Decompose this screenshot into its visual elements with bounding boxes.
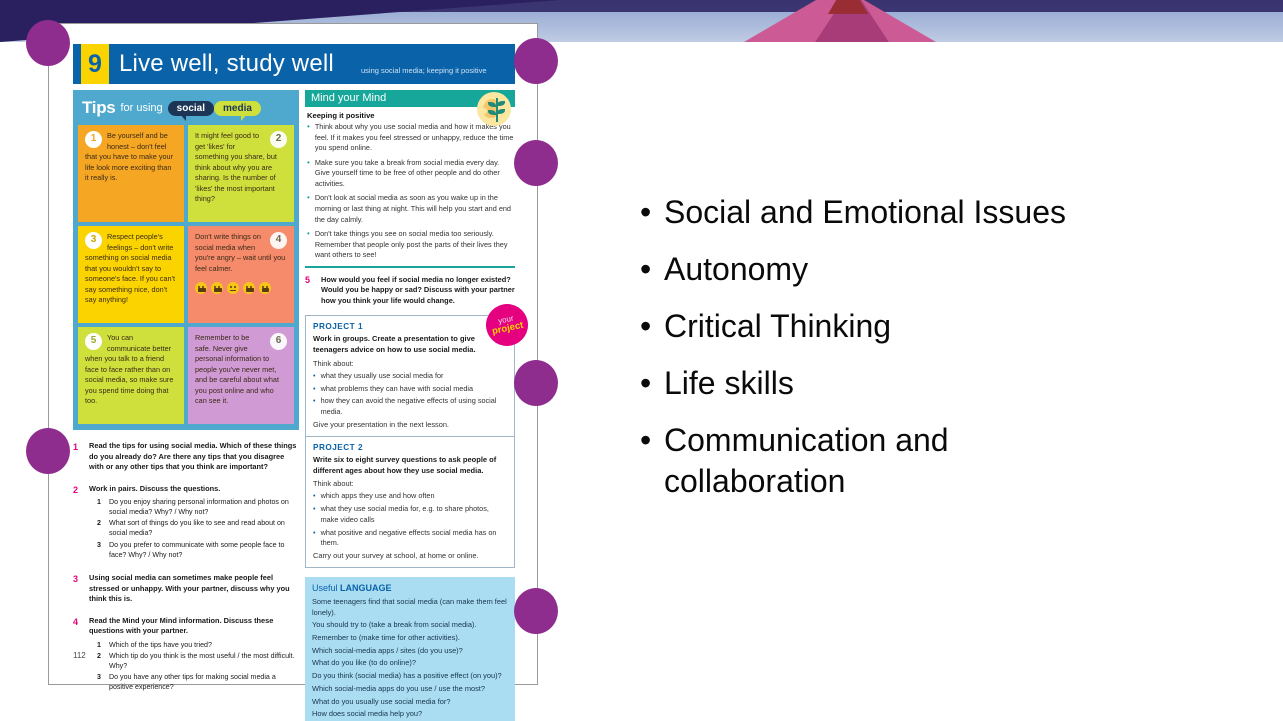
mind-your-mind-box: Mind your Mind Keeping it positive • Thi…: [305, 90, 515, 268]
project-think-label: Think about:: [313, 359, 507, 368]
bullet-dot-icon: •: [313, 384, 316, 394]
exercise-3: 3 Using social media can sometimes make …: [73, 573, 299, 605]
mym-bullet: • Don't look at social media as soon as …: [305, 193, 515, 225]
useful-language-line: You should try to (take a break from soc…: [312, 620, 508, 630]
chapter-title: Live well, study well: [119, 50, 334, 78]
project-item: • what positive and negative effects soc…: [313, 528, 507, 549]
project-lead: Write six to eight survey questions to a…: [313, 455, 507, 476]
tip-number-badge: 1: [85, 131, 102, 148]
page-number: 112: [73, 651, 86, 660]
exercise-number: 2: [73, 484, 82, 563]
list-item: • Life skills: [638, 363, 1238, 404]
mym-bullet: • Don't take things you see on social me…: [305, 229, 515, 261]
tip-text: Remember to be safe. Never give personal…: [195, 333, 279, 405]
project-item-text: what they usually use social media for: [321, 371, 444, 381]
right-column: Mind your Mind Keeping it positive • Thi…: [305, 90, 515, 721]
useful-language-line: Remember to (make time for other activit…: [312, 633, 508, 643]
mind-your-mind-header: Mind your Mind: [305, 90, 515, 107]
project-item-text: how they can avoid the negative effects …: [321, 396, 507, 417]
sub-number: 1: [97, 498, 103, 518]
tip-number-badge: 5: [85, 333, 102, 350]
useful-language-line: What do you usually use social media for…: [312, 697, 508, 707]
sub-item: 1 Do you enjoy sharing personal informat…: [89, 498, 299, 518]
badge-line2: project: [491, 321, 524, 338]
bullet-dot-icon: •: [307, 122, 310, 154]
bullet-dot-icon: •: [313, 491, 316, 501]
exercise-2: 2 Work in pairs. Discuss the questions. …: [73, 484, 299, 563]
tip-card-4: 4 Don't write things on social media whe…: [188, 226, 294, 323]
sub-number: 1: [97, 641, 103, 651]
bullet-dot-icon: •: [640, 192, 651, 233]
language-label: LANGUAGE: [340, 583, 392, 593]
angry-face-icon: [195, 282, 207, 294]
tip-text: It might feel good to get 'likes' for so…: [195, 131, 277, 203]
project-item-text: which apps they use and how often: [321, 491, 435, 501]
sub-number: 2: [97, 652, 103, 672]
emoji-scale: [195, 274, 287, 294]
exercise-sublist: 1 Do you enjoy sharing personal informat…: [89, 498, 299, 561]
band-tent-peak: [828, 0, 868, 14]
bullet-text: Critical Thinking: [664, 308, 891, 344]
project-item: • what problems they can have with socia…: [313, 384, 507, 394]
project-item: • what they use social media for, e.g. t…: [313, 504, 507, 525]
bullet-dot-icon: •: [307, 229, 310, 261]
project-1-box: your project PROJECT 1 Work in groups. C…: [305, 315, 515, 437]
sub-number: 2: [97, 519, 103, 539]
bullet-list: • Social and Emotional Issues • Autonomy…: [638, 192, 1238, 502]
tips-heading-word2: for using: [120, 102, 162, 114]
exercise-text-block: Read the Mind your Mind information. Dis…: [89, 616, 299, 695]
head-with-plant-icon: [477, 92, 511, 126]
project-think-label: Think about:: [313, 479, 507, 488]
tip-number-badge: 2: [270, 131, 287, 148]
binder-circle: [514, 588, 558, 634]
useful-label: Useful: [312, 583, 340, 593]
project-item: • which apps they use and how often: [313, 491, 507, 501]
project-item-text: what problems they can have with social …: [321, 384, 474, 394]
bullet-dot-icon: •: [640, 420, 651, 461]
slide-canvas: • Social and Emotional Issues • Autonomy…: [0, 0, 1283, 721]
bullet-dot-icon: •: [313, 371, 316, 381]
bullet-text: Communication and collaboration: [664, 422, 949, 499]
bullet-text: Life skills: [664, 365, 794, 401]
book-page-image: 9 Live well, study well using social med…: [48, 23, 538, 685]
tip-number-badge: 4: [270, 232, 287, 249]
question-number: 5: [305, 275, 314, 307]
exercise-sublist: 1 Which of the tips have you tried? 2 Wh…: [89, 641, 299, 694]
tip-card-3: 3 Respect people's feelings – don't writ…: [78, 226, 184, 323]
sub-item: 2 Which tip do you think is the most use…: [89, 652, 299, 672]
exercise-number: 1: [73, 441, 82, 473]
chapter-header: 9 Live well, study well using social med…: [73, 44, 515, 84]
sub-text: Do you enjoy sharing personal informatio…: [109, 498, 299, 518]
tip-number-badge: 3: [85, 232, 102, 249]
tips-grid: 1 Be yourself and be honest – don't feel…: [78, 125, 294, 424]
project-footer: Give your presentation in the next lesso…: [313, 420, 507, 429]
sub-number: 3: [97, 673, 103, 693]
bullet-dot-icon: •: [640, 306, 651, 347]
bullet-text: Autonomy: [664, 251, 808, 287]
useful-language-line: What do you like (to do online)?: [312, 658, 508, 668]
list-item: • Social and Emotional Issues: [638, 192, 1238, 233]
exercise-text: Work in pairs. Discuss the questions.: [89, 484, 299, 495]
mym-bullet-text: Don't take things you see on social medi…: [315, 229, 515, 261]
tip-card-5: 5 You can communicate better when you ta…: [78, 327, 184, 424]
tips-panel-header: Tips for using social media: [78, 95, 294, 125]
useful-language-line: Some teenagers find that social media (c…: [312, 597, 508, 617]
bullet-text: Social and Emotional Issues: [664, 194, 1066, 230]
sub-text: What sort of things do you like to see a…: [109, 519, 299, 539]
tip-number-badge: 6: [270, 333, 287, 350]
mym-bullet: • Think about why you use social media a…: [305, 122, 515, 154]
exercise-text: Using social media can sometimes make pe…: [89, 573, 299, 605]
list-item: • Autonomy: [638, 249, 1238, 290]
useful-language-title: Useful LANGUAGE: [312, 583, 508, 593]
exercise-list: 1 Read the tips for using social media. …: [73, 441, 299, 695]
tip-card-1: 1 Be yourself and be honest – don't feel…: [78, 125, 184, 222]
sub-text: Do you have any other tips for making so…: [109, 673, 299, 693]
binder-circle: [514, 140, 558, 186]
bullet-dot-icon: •: [307, 158, 310, 190]
sub-text: Do you prefer to communicate with some p…: [109, 541, 299, 561]
mym-bullet-text: Think about why you use social media and…: [315, 122, 515, 154]
sad-face-icon: [211, 282, 223, 294]
project-item: • what they usually use social media for: [313, 371, 507, 381]
project-title: PROJECT 1: [313, 322, 507, 331]
exercise-1: 1 Read the tips for using social media. …: [73, 441, 299, 473]
sub-text: Which of the tips have you tried?: [109, 641, 212, 651]
question-text: How would you feel if social media no lo…: [321, 275, 515, 307]
speech-bubble-media: media: [214, 101, 261, 116]
project-lead: Work in groups. Create a presentation to…: [313, 334, 507, 355]
project-title: PROJECT 2: [313, 443, 507, 452]
useful-language-line: How does social media help you?: [312, 709, 508, 719]
chapter-number: 9: [81, 44, 109, 84]
speech-bubble-social: social: [168, 101, 214, 116]
sub-text: Which tip do you think is the most usefu…: [109, 652, 299, 672]
exercise-text-block: Work in pairs. Discuss the questions. 1 …: [89, 484, 299, 563]
tips-panel: Tips for using social media 1 Be yoursel…: [73, 90, 299, 430]
sub-item: 3 Do you prefer to communicate with some…: [89, 541, 299, 561]
list-item: • Communication and collaboration: [638, 420, 1084, 502]
mind-your-mind-title: Mind your Mind: [311, 92, 386, 104]
binder-circle: [514, 38, 558, 84]
list-item: • Critical Thinking: [638, 306, 1238, 347]
sub-number: 3: [97, 541, 103, 561]
useful-language-line: Which social-media apps / sites (do you …: [312, 646, 508, 656]
project-item-text: what they use social media for, e.g. to …: [321, 504, 507, 525]
tip-card-6: 6 Remember to be safe. Never give person…: [188, 327, 294, 424]
question-5: 5 How would you feel if social media no …: [305, 275, 515, 307]
bullet-dot-icon: •: [640, 249, 651, 290]
chapter-subtitle: using social media; keeping it positive: [361, 66, 487, 75]
tip-card-2: 2 It might feel good to get 'likes' for …: [188, 125, 294, 222]
sub-item: 1 Which of the tips have you tried?: [89, 641, 299, 651]
mym-bullet-text: Make sure you take a break from social m…: [315, 158, 515, 190]
sub-item: 2 What sort of things do you like to see…: [89, 519, 299, 539]
left-column: Tips for using social media 1 Be yoursel…: [73, 90, 299, 706]
bullet-dot-icon: •: [313, 396, 316, 417]
binder-circle: [26, 20, 70, 66]
divider: [305, 266, 515, 268]
project-item: • how they can avoid the negative effect…: [313, 396, 507, 417]
neutral-face-icon: [227, 282, 239, 294]
useful-language-box: Useful LANGUAGE Some teenagers find that…: [305, 577, 515, 721]
binder-circle: [26, 428, 70, 474]
smiling-face-icon: [243, 282, 255, 294]
bullet-dot-icon: •: [640, 363, 651, 404]
happy-face-icon: [259, 282, 271, 294]
bullet-dot-icon: •: [313, 528, 316, 549]
bullet-dot-icon: •: [313, 504, 316, 525]
sub-item: 3 Do you have any other tips for making …: [89, 673, 299, 693]
project-footer: Carry out your survey at school, at home…: [313, 551, 507, 560]
project-item-text: what positive and negative effects socia…: [321, 528, 507, 549]
project-2-box: PROJECT 2 Write six to eight survey ques…: [305, 437, 515, 568]
tips-heading-word1: Tips: [82, 98, 115, 118]
useful-language-line: Which social-media apps do you use / use…: [312, 684, 508, 694]
binder-circle: [514, 360, 558, 406]
exercise-number: 3: [73, 573, 82, 605]
exercise-4: 4 Read the Mind your Mind information. D…: [73, 616, 299, 695]
mym-bullet: • Make sure you take a break from social…: [305, 158, 515, 190]
useful-language-line: Do you think (social media) has a positi…: [312, 671, 508, 681]
exercise-text: Read the tips for using social media. Wh…: [89, 441, 299, 473]
mym-bullet-text: Don't look at social media as soon as yo…: [315, 193, 515, 225]
bullet-dot-icon: •: [307, 193, 310, 225]
exercise-text: Read the Mind your Mind information. Dis…: [89, 616, 299, 637]
